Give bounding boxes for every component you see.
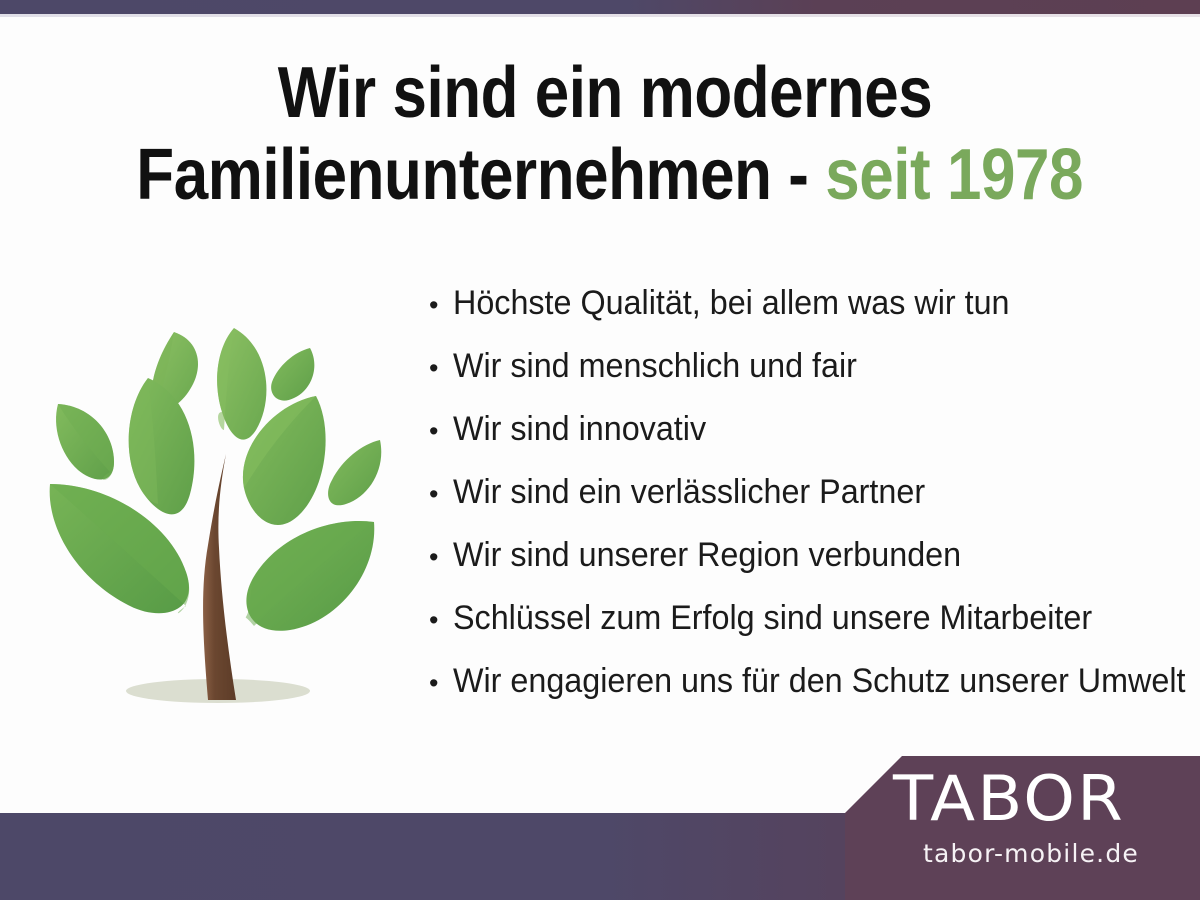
list-item: • Wir sind innovativ [424,409,1200,472]
list-item: • Wir sind menschlich und fair [424,346,1200,409]
list-item-label: Wir sind menschlich und fair [453,346,857,386]
list-item-label: Wir sind innovativ [453,409,706,449]
bullet-marker-icon: • [424,348,453,388]
list-item: • Schlüssel zum Erfolg sind unsere Mitar… [424,598,1200,661]
brand-wordmark: TABOR [893,768,1125,830]
list-item: • Höchste Qualität, bei allem was wir tu… [424,283,1200,346]
list-item-label: Wir sind ein verlässlicher Partner [453,472,925,512]
tree-trunk [203,454,236,700]
list-item-label: Wir engagieren uns für den Schutz unsere… [453,661,1185,701]
bullet-marker-icon: • [424,537,453,577]
page-title-line-2-prefix: Familienunternehmen - [136,135,825,215]
brand-logo-inner: TABOR tabor-mobile.de [845,756,1200,900]
tree-leaf-top-right-small [271,348,314,401]
list-item-label: Höchste Qualität, bei allem was wir tun [453,283,1010,323]
bullet-marker-icon: • [424,474,453,514]
value-bullet-list: • Höchste Qualität, bei allem was wir tu… [424,283,1200,724]
brand-logo-plate: TABOR tabor-mobile.de [845,756,1200,900]
slide-root: Wir sind ein modernes Familienunternehme… [0,0,1200,900]
top-accent-bar [0,0,1200,14]
tree-icon [22,300,422,720]
bullet-marker-icon: • [424,600,453,640]
list-item-label: Wir sind unserer Region verbunden [453,535,961,575]
bullet-marker-icon: • [424,285,453,325]
list-item: • Wir sind unserer Region verbunden [424,535,1200,598]
page-title: Wir sind ein modernes Familienunternehme… [136,52,1073,216]
page-title-line-1: Wir sind ein modernes [136,52,1073,134]
list-item: • Wir engagieren uns für den Schutz unse… [424,661,1200,724]
tree-leaf-right [328,440,381,505]
tree-illustration [22,300,422,720]
page-title-line-2: Familienunternehmen - seit 1978 [136,134,1073,216]
brand-tagline: tabor-mobile.de [923,840,1139,868]
list-item-label: Schlüssel zum Erfolg sind unsere Mitarbe… [453,598,1092,638]
bullet-marker-icon: • [424,411,453,451]
list-item: • Wir sind ein verlässlicher Partner [424,472,1200,535]
page-title-accent: seit 1978 [825,135,1083,215]
top-accent-hairline [0,14,1200,17]
bullet-marker-icon: • [424,663,453,703]
